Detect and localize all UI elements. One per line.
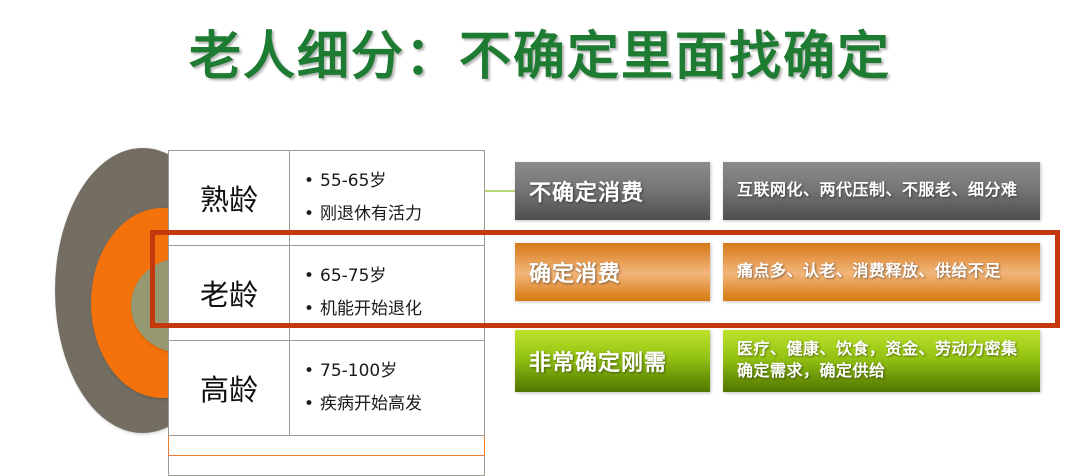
band-detail-text: 痛点多、认老、消费释放、供给不足 — [737, 261, 1001, 283]
bullet-text: 65-75岁 — [320, 266, 386, 286]
table-row-empty — [169, 456, 485, 476]
table-row[interactable]: 高龄 •75-100岁 •疾病开始高发 — [169, 341, 485, 436]
band-label-text: 非常确定刚需 — [529, 345, 667, 377]
segment-name: 高龄 — [169, 341, 290, 436]
detail-line: 互联网化、两代压制、不服老、细分难 — [737, 180, 1018, 202]
detail-line: 确定需求，确定供给 — [737, 361, 1018, 383]
table-row[interactable]: 熟龄 •55-65岁 •刚退休有活力 — [169, 151, 485, 246]
age-segment-table: 熟龄 •55-65岁 •刚退休有活力 老龄 •65-75岁 — [168, 150, 485, 476]
segmentation-diagram: 熟龄 •55-65岁 •刚退休有活力 老龄 •65-75岁 — [0, 130, 1080, 460]
band-label-text: 不确定消费 — [529, 175, 644, 207]
empty-cell — [169, 436, 485, 456]
bullet-text: 55-65岁 — [320, 171, 386, 191]
bullet-text: 75-100岁 — [320, 361, 397, 381]
bullet-icon: • — [304, 171, 314, 191]
list-item: •55-65岁 — [304, 165, 478, 198]
segment-bullets: •75-100岁 •疾病开始高发 — [290, 341, 485, 436]
band-detail-very-certain-rigid-demand[interactable]: 医疗、健康、饮食，资金、劳动力密集 确定需求，确定供给 — [723, 330, 1040, 392]
segment-name: 熟龄 — [169, 151, 290, 246]
segment-name: 老龄 — [169, 246, 290, 341]
segment-bullets: •65-75岁 •机能开始退化 — [290, 246, 485, 341]
detail-line: 医疗、健康、饮食，资金、劳动力密集 — [737, 339, 1018, 361]
band-label-certain-consumption[interactable]: 确定消费 — [515, 243, 710, 301]
list-item: •75-100岁 — [304, 355, 478, 388]
table-row-empty — [169, 436, 485, 456]
list-item: •65-75岁 — [304, 260, 478, 293]
band-detail-text: 医疗、健康、饮食，资金、劳动力密集 确定需求，确定供给 — [737, 339, 1018, 382]
band-detail-certain-consumption[interactable]: 痛点多、认老、消费释放、供给不足 — [723, 243, 1040, 301]
band-detail-text: 互联网化、两代压制、不服老、细分难 — [737, 180, 1018, 202]
bullet-icon: • — [304, 361, 314, 381]
segment-bullets: •55-65岁 •刚退休有活力 — [290, 151, 485, 246]
list-item: •刚退休有活力 — [304, 198, 478, 231]
detail-line: 痛点多、认老、消费释放、供给不足 — [737, 261, 1001, 283]
band-detail-uncertain-consumption[interactable]: 互联网化、两代压制、不服老、细分难 — [723, 162, 1040, 220]
band-label-uncertain-consumption[interactable]: 不确定消费 — [515, 162, 710, 220]
band-label-text: 确定消费 — [529, 256, 621, 288]
bullet-text: 机能开始退化 — [320, 299, 422, 319]
list-item: •机能开始退化 — [304, 293, 478, 326]
bullet-icon: • — [304, 266, 314, 286]
bullet-icon: • — [304, 299, 314, 319]
connector-line-left — [485, 190, 515, 192]
table-row[interactable]: 老龄 •65-75岁 •机能开始退化 — [169, 246, 485, 341]
page-title: 老人细分：不确定里面找确定 — [0, 14, 1080, 89]
bullet-text: 刚退休有活力 — [320, 204, 422, 224]
empty-cell — [169, 456, 485, 476]
list-item: •疾病开始高发 — [304, 388, 478, 421]
band-label-very-certain-rigid-demand[interactable]: 非常确定刚需 — [515, 330, 710, 392]
bullet-text: 疾病开始高发 — [320, 394, 422, 414]
bullet-icon: • — [304, 394, 314, 414]
bullet-icon: • — [304, 204, 314, 224]
